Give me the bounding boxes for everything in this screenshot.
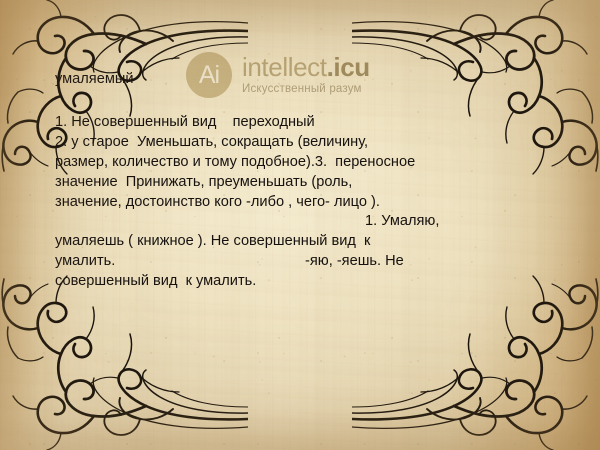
- entry-headword: умаляемый: [55, 69, 134, 89]
- entry-line-2: 2. у старое Уменьшать, сокращать (величи…: [55, 132, 368, 152]
- entry-line-5: значение, достоинство кого -либо , чего-…: [55, 192, 380, 212]
- entry-line-4: значение Принижать, преуменьшать (роль,: [55, 172, 352, 192]
- entry-line-10: совершенный вид к умалить.: [55, 271, 256, 291]
- entry-line-8: умалить.: [55, 251, 115, 271]
- entry-line-3: размер, количество и тому подобное).3. п…: [55, 152, 415, 172]
- entry-line-1: 1. Не совершенный вид переходный: [55, 112, 315, 132]
- entry-line-9-indented: -яю, -яешь. Не: [305, 251, 404, 271]
- dictionary-entry: умаляемый 1. Не совершенный вид переходн…: [0, 0, 600, 450]
- entry-line-6-indented: 1. Умаляю,: [365, 211, 439, 231]
- entry-line-7: умаляешь ( книжное ). Не совершенный вид…: [55, 231, 370, 251]
- parchment-card: Ai intellect.icu Искусственный разум ума…: [0, 0, 600, 450]
